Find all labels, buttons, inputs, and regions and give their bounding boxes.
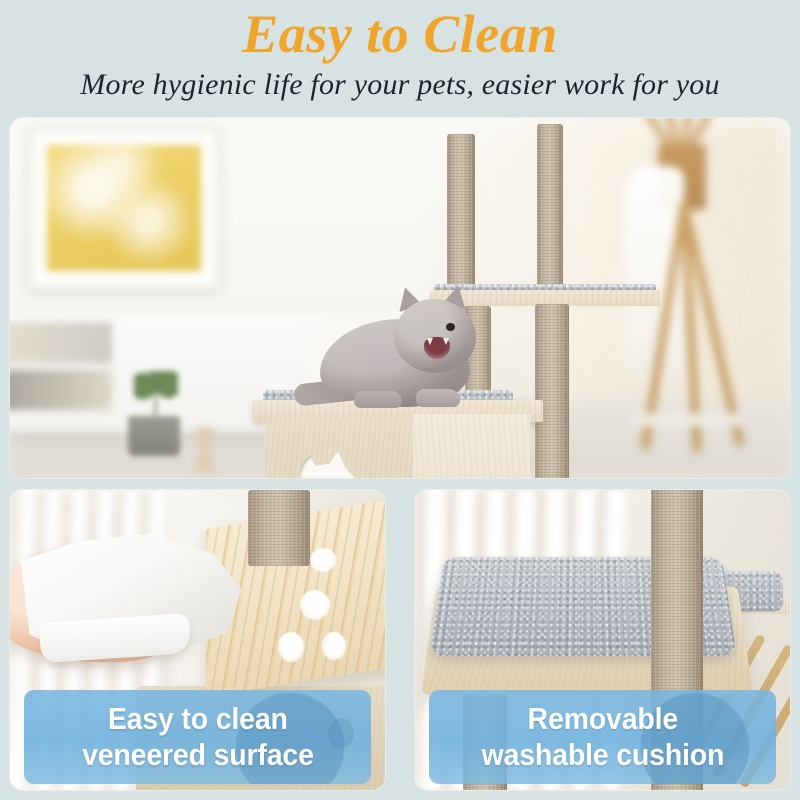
caption-line-2: veneered surface (82, 737, 314, 773)
hero-scene (10, 118, 790, 478)
cat-fang (443, 338, 449, 345)
sisal-post (537, 124, 563, 294)
cat-eye (446, 323, 455, 331)
product-feature-poster: Easy to Clean More hygienic life for you… (0, 0, 800, 800)
paw-stain (322, 632, 346, 660)
caption-line-2: washable cushion (481, 737, 724, 773)
removable-cushion-card: Removable washable cushion (415, 490, 790, 790)
condo-front-panel (265, 418, 413, 478)
cat-hind-paw (354, 391, 402, 408)
caption-line-1: Easy to clean (108, 701, 288, 737)
caption-line-1: Removable (527, 701, 678, 737)
cat-photo-subject (298, 293, 508, 413)
cat-head (394, 299, 476, 373)
hero-image-panel (10, 118, 790, 478)
paw-stain (310, 548, 336, 572)
paw-stain (278, 632, 304, 662)
cat-condo (265, 418, 530, 478)
condo-side-panel (413, 414, 530, 478)
page-subtitle: More hygienic life for your pets, easier… (0, 66, 800, 104)
caption-bar-left: Easy to clean veneered surface (24, 690, 371, 784)
cat-fang (427, 338, 433, 345)
sisal-post (535, 304, 569, 478)
sisal-post (248, 490, 310, 566)
poster-header: Easy to Clean More hygienic life for you… (0, 0, 800, 118)
cat-front-paw (416, 389, 460, 407)
easy-to-clean-card: Easy to clean veneered surface (10, 490, 385, 790)
cat-shaped-entrance (297, 451, 359, 478)
caption-bar-right: Removable washable cushion (429, 690, 776, 784)
paw-stain (300, 590, 330, 620)
page-title: Easy to Clean (0, 4, 800, 64)
